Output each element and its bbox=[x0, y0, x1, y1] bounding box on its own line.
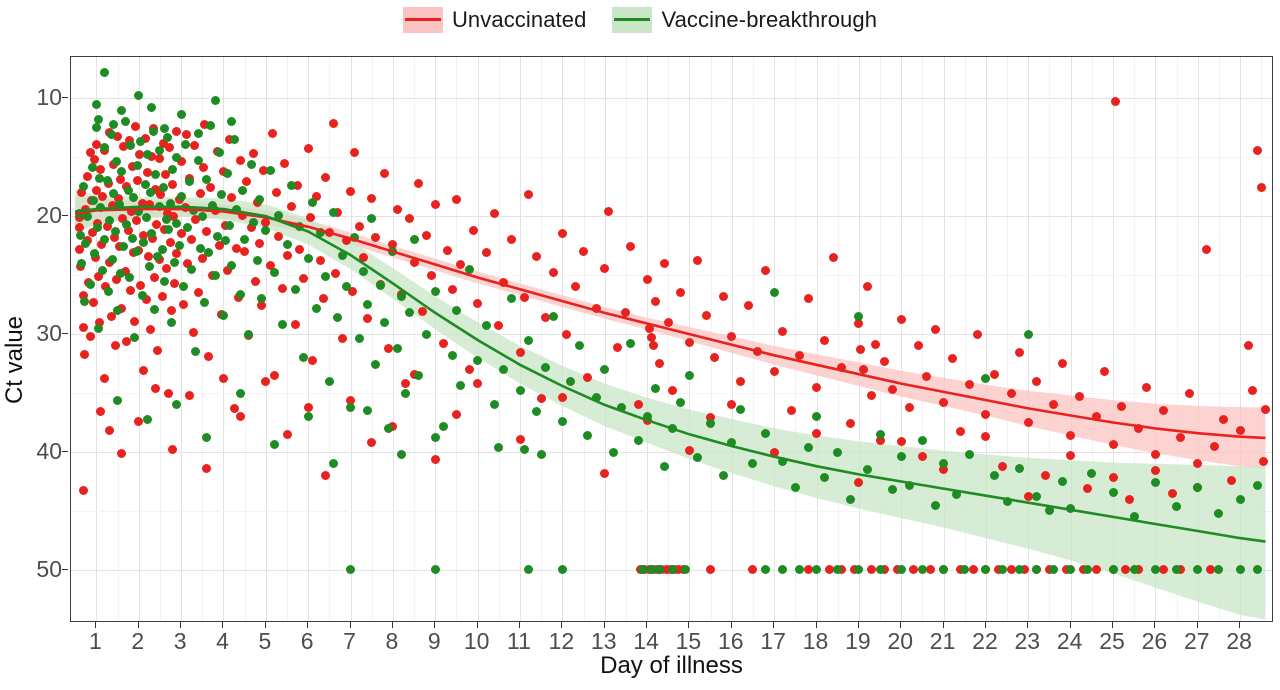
x-tick-label: 10 bbox=[457, 628, 497, 655]
x-tick-label: 16 bbox=[711, 628, 751, 655]
x-tick-label: 27 bbox=[1177, 628, 1217, 655]
x-tick-mark bbox=[307, 622, 308, 628]
x-tick-label: 20 bbox=[880, 628, 920, 655]
x-tick-mark bbox=[95, 622, 96, 628]
x-tick-mark bbox=[222, 622, 223, 628]
x-tick-label: 23 bbox=[1007, 628, 1047, 655]
x-tick-label: 17 bbox=[753, 628, 793, 655]
x-tick-label: 25 bbox=[1092, 628, 1132, 655]
x-tick-mark bbox=[646, 622, 647, 628]
x-tick-label: 19 bbox=[838, 628, 878, 655]
x-tick-mark bbox=[519, 622, 520, 628]
x-tick-label: 18 bbox=[796, 628, 836, 655]
x-tick-label: 4 bbox=[202, 628, 242, 655]
x-tick-mark bbox=[985, 622, 986, 628]
x-tick-label: 1 bbox=[75, 628, 115, 655]
x-tick-mark bbox=[477, 622, 478, 628]
x-tick-label: 28 bbox=[1219, 628, 1259, 655]
x-tick-mark bbox=[773, 622, 774, 628]
x-tick-mark bbox=[434, 622, 435, 628]
x-tick-mark bbox=[1197, 622, 1198, 628]
x-tick-label: 22 bbox=[965, 628, 1005, 655]
trend-line bbox=[75, 207, 1265, 542]
x-tick-mark bbox=[858, 622, 859, 628]
x-tick-mark bbox=[604, 622, 605, 628]
x-tick-mark bbox=[180, 622, 181, 628]
x-tick-mark bbox=[350, 622, 351, 628]
x-tick-mark bbox=[731, 622, 732, 628]
x-tick-mark bbox=[1154, 622, 1155, 628]
x-tick-label: 3 bbox=[160, 628, 200, 655]
x-tick-mark bbox=[688, 622, 689, 628]
x-tick-mark bbox=[1027, 622, 1028, 628]
x-tick-mark bbox=[1239, 622, 1240, 628]
x-tick-label: 11 bbox=[499, 628, 539, 655]
chart-root: Unvaccinated Vaccine-breakthrough Ct val… bbox=[0, 0, 1280, 690]
x-tick-mark bbox=[900, 622, 901, 628]
x-tick-label: 7 bbox=[330, 628, 370, 655]
x-tick-mark bbox=[138, 622, 139, 628]
plot-panel bbox=[70, 56, 1273, 622]
x-tick-label: 24 bbox=[1050, 628, 1090, 655]
x-tick-label: 5 bbox=[245, 628, 285, 655]
x-tick-label: 12 bbox=[541, 628, 581, 655]
x-tick-label: 26 bbox=[1134, 628, 1174, 655]
x-tick-label: 21 bbox=[923, 628, 963, 655]
x-tick-mark bbox=[1070, 622, 1071, 628]
x-tick-mark bbox=[816, 622, 817, 628]
x-tick-mark bbox=[265, 622, 266, 628]
x-tick-label: 8 bbox=[372, 628, 412, 655]
x-tick-label: 15 bbox=[668, 628, 708, 655]
x-tick-label: 6 bbox=[287, 628, 327, 655]
x-tick-mark bbox=[1112, 622, 1113, 628]
x-tick-mark bbox=[943, 622, 944, 628]
x-tick-label: 14 bbox=[626, 628, 666, 655]
trend-line bbox=[75, 209, 1265, 438]
x-tick-label: 9 bbox=[414, 628, 454, 655]
x-tick-label: 2 bbox=[118, 628, 158, 655]
x-tick-mark bbox=[561, 622, 562, 628]
x-tick-mark bbox=[392, 622, 393, 628]
x-tick-label: 13 bbox=[584, 628, 624, 655]
trend-lines bbox=[71, 57, 1273, 622]
